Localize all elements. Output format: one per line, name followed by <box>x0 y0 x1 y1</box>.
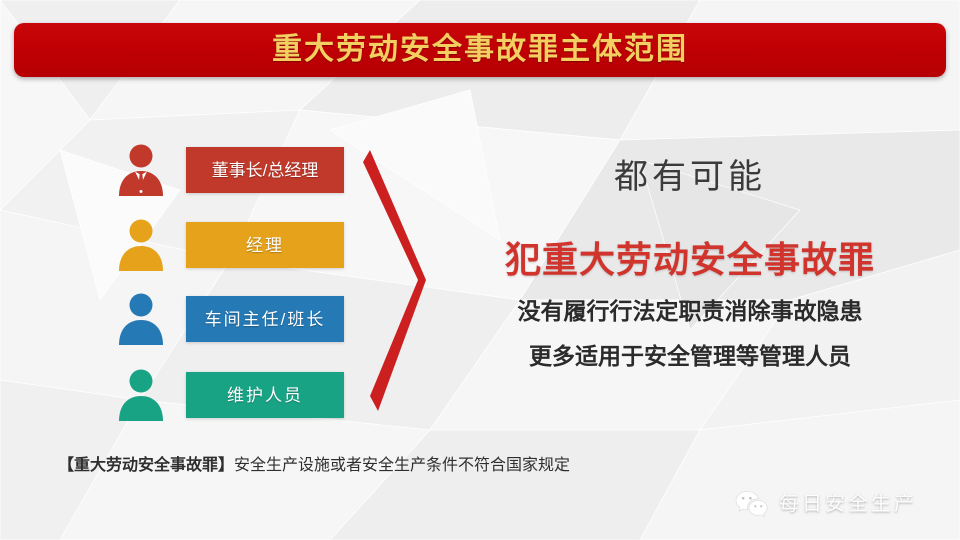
person-suit-icon <box>118 144 164 196</box>
slide-canvas: 重大劳动安全事故罪主体范围 董事长/总经理 经理 车间主任/班长 <box>0 0 960 540</box>
watermark-label: 每日安全生产 <box>779 494 917 514</box>
footnote-text: 安全生产设施或者安全生产条件不符合国家规定 <box>234 457 570 474</box>
person-icon <box>118 293 164 345</box>
page-title: 重大劳动安全事故罪主体范围 <box>272 35 688 65</box>
role-bar[interactable]: 董事长/总经理 <box>186 147 344 193</box>
conclusion-detail-line: 没有履行行法定职责消除事故隐患 <box>455 300 925 323</box>
footnote-term: 【重大劳动安全事故罪】 <box>58 457 234 474</box>
chevron-right-arrow-icon <box>360 148 440 413</box>
role-row: 车间主任/班长 <box>118 293 344 345</box>
role-bar[interactable]: 维护人员 <box>186 372 344 418</box>
role-label: 车间主任/班长 <box>205 311 326 328</box>
role-bar[interactable]: 经理 <box>186 222 344 268</box>
slide-title-banner: 重大劳动安全事故罪主体范围 <box>14 23 946 77</box>
wechat-icon <box>735 490 769 518</box>
conclusion-lead: 都有可能 <box>455 160 925 194</box>
role-row: 经理 <box>118 219 344 271</box>
role-row: 维护人员 <box>118 369 344 421</box>
conclusion-detail-line: 更多适用于安全管理等管理人员 <box>455 345 925 368</box>
person-icon <box>118 219 164 271</box>
role-bar[interactable]: 车间主任/班长 <box>186 296 344 342</box>
role-label: 维护人员 <box>227 387 303 404</box>
person-icon <box>118 369 164 421</box>
footnote-caption: 【重大劳动安全事故罪】安全生产设施或者安全生产条件不符合国家规定 <box>58 458 570 474</box>
role-label: 经理 <box>246 237 284 254</box>
watermark: 每日安全生产 <box>735 490 917 518</box>
conclusion-crime-title: 犯重大劳动安全事故罪 <box>455 242 925 278</box>
conclusion-block: 都有可能 犯重大劳动安全事故罪 没有履行行法定职责消除事故隐患 更多适用于安全管… <box>455 150 925 368</box>
role-row: 董事长/总经理 <box>118 144 344 196</box>
role-label: 董事长/总经理 <box>212 162 319 179</box>
